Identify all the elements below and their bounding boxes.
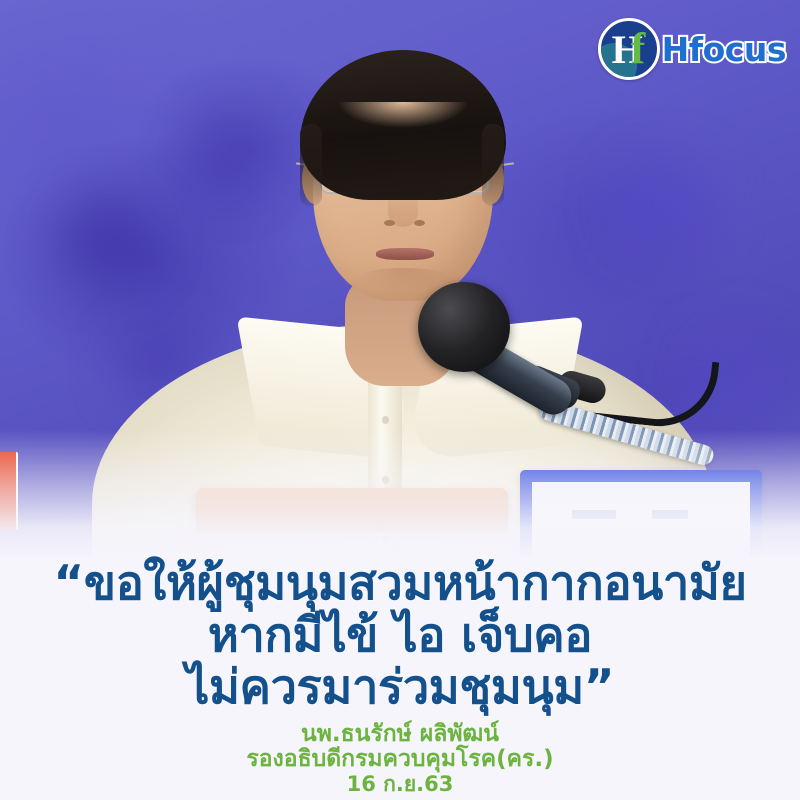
logo-letter-f: f [631, 27, 646, 71]
hfocus-wordmark: Hfocus [662, 30, 786, 69]
shirt-button [382, 416, 389, 423]
quote-line-2: หากมีไข้ ไอ เจ็บคอ [0, 610, 800, 662]
caption-panel: “ขอให้ผู้ชุมนุมสวมหน้ากากอนามัย หากมีไข้… [0, 556, 800, 800]
quote-line-3: ไม่ควรมาร่วมชุมนุม” [0, 662, 800, 714]
hfocus-logo[interactable]: H f Hfocus [598, 18, 786, 80]
speaker-role: รองอธิบดีกรมควบคุมโรค(คร.) [0, 747, 800, 772]
speaker-name: นพ.ธนรักษ์ ผลิพัฒน์ [0, 722, 800, 747]
photo-fade-overlay [0, 430, 800, 560]
publish-date: 16 ก.ย.63 [0, 772, 800, 797]
quote-line-1: “ขอให้ผู้ชุมนุมสวมหน้ากากอนามัย [0, 558, 800, 610]
sideburn-left [300, 124, 322, 206]
hfocus-logo-icon: H f [598, 18, 660, 80]
hair [300, 50, 506, 200]
nostril-left [384, 220, 395, 226]
sideburn-right [482, 124, 504, 206]
mouth [376, 248, 434, 260]
nostril-right [414, 220, 425, 226]
microphone-windscreen [418, 282, 510, 372]
image-canvas: “ขอให้ผู้ชุมนุมสวมหน้ากากอนามัย หากมีไข้… [0, 0, 800, 800]
